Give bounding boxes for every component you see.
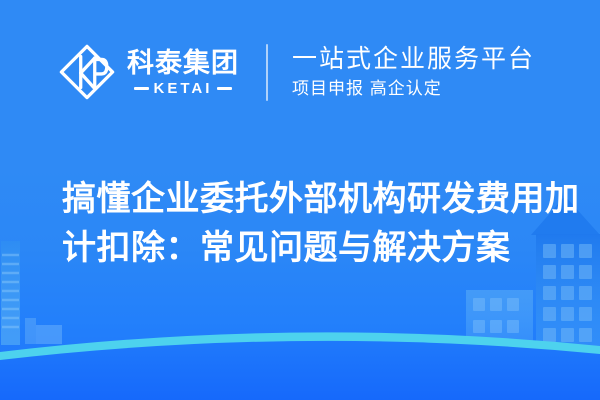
banner-header: 科泰集团 KETAI 一站式企业服务平台 项目申报 高企认定: [0, 34, 600, 110]
brand-logo-wordmark: 科泰集团 KETAI: [127, 48, 239, 96]
brand-name-cn: 科泰集团: [127, 48, 239, 78]
tagline-sub: 项目申报 高企认定: [292, 78, 535, 100]
header-tagline: 一站式企业服务平台 项目申报 高企认定: [292, 44, 535, 100]
page-title-line-1: 搞懂企业委托外部机构研发费用加: [62, 175, 562, 224]
page-title: 搞懂企业委托外部机构研发费用加 计扣除：常见问题与解决方案: [62, 175, 562, 273]
header-divider: [266, 44, 268, 101]
brand-name-en-row: KETAI: [134, 81, 233, 96]
brand-logo[interactable]: 科泰集团 KETAI: [58, 43, 239, 101]
tagline-main: 一站式企业服务平台: [292, 44, 535, 75]
brand-name-en: KETAI: [154, 81, 213, 96]
dash-left-icon: [134, 87, 149, 90]
dash-right-icon: [217, 87, 232, 90]
promo-banner: 科泰集团 KETAI 一站式企业服务平台 项目申报 高企认定 搞懂企业委托外部机…: [0, 0, 600, 400]
ground-arc: [0, 332, 600, 400]
left-tall-tower: [1, 241, 20, 345]
ketai-kp-monogram-icon: [58, 43, 116, 101]
left-low-block: [25, 318, 62, 344]
page-title-line-2: 计扣除：常见问题与解决方案: [62, 224, 562, 273]
